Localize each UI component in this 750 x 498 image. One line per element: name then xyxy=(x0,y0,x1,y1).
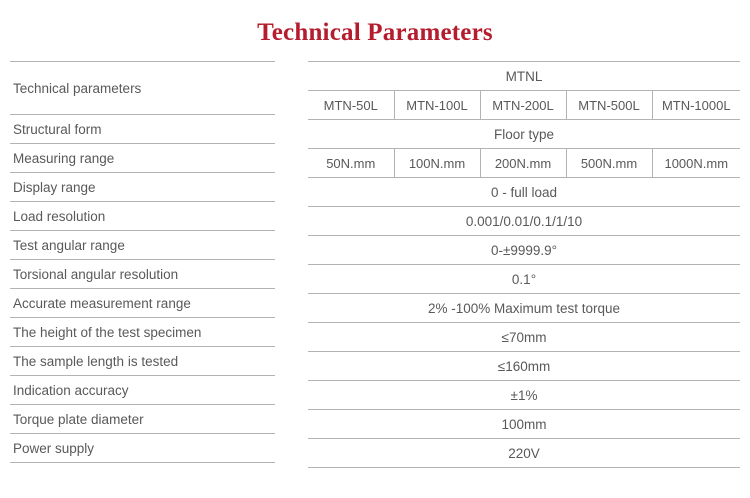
table-row: 0.001/0.01/0.1/1/10 xyxy=(308,207,740,236)
row-label-power-supply: Power supply xyxy=(10,434,275,463)
value-test-angular-range: 0-±9999.9° xyxy=(308,236,740,265)
table-row: ±1% xyxy=(308,381,740,410)
table-row: Torsional angular resolution xyxy=(10,260,275,289)
table-row: The sample length is tested xyxy=(10,347,275,376)
table-row: Floor type xyxy=(308,120,740,149)
table-row: Load resolution xyxy=(10,202,275,231)
value-indication-accuracy: ±1% xyxy=(308,381,740,410)
table-row: Accurate measurement range xyxy=(10,289,275,318)
parameter-value-table: MTNL MTN-50L MTN-100L MTN-200L MTN-500L … xyxy=(308,61,740,468)
model-cell-1: MTN-50L xyxy=(308,91,394,120)
row-label-indication-accuracy: Indication accuracy xyxy=(10,376,275,405)
table-row: Indication accuracy xyxy=(10,376,275,405)
row-label-torque-plate-diameter: Torque plate diameter xyxy=(10,405,275,434)
series-name-cell: MTNL xyxy=(308,62,740,91)
measuring-range-cell-5: 1000N.mm xyxy=(652,149,740,178)
table-row-measuring-range: 50N.mm 100N.mm 200N.mm 500N.mm 1000N.mm xyxy=(308,149,740,178)
value-structural-form: Floor type xyxy=(308,120,740,149)
table-row-header: Technical parameters xyxy=(10,62,275,115)
row-label-test-specimen-height: The height of the test specimen xyxy=(10,318,275,347)
row-label-measuring-range: Measuring range xyxy=(10,144,275,173)
measuring-range-cell-2: 100N.mm xyxy=(394,149,480,178)
value-load-resolution: 0.001/0.01/0.1/1/10 xyxy=(308,207,740,236)
table-row: 220V xyxy=(308,439,740,468)
specification-table: Technical parameters Structural form Mea… xyxy=(0,61,750,468)
table-row: Power supply xyxy=(10,434,275,463)
parameter-name-column: Technical parameters Structural form Mea… xyxy=(10,61,275,463)
row-label-test-angular-range: Test angular range xyxy=(10,231,275,260)
table-row: 100mm xyxy=(308,410,740,439)
table-row: Torque plate diameter xyxy=(10,405,275,434)
measuring-range-cell-3: 200N.mm xyxy=(480,149,566,178)
row-label-torsional-angular-resolution: Torsional angular resolution xyxy=(10,260,275,289)
table-row: Structural form xyxy=(10,115,275,144)
table-row: ≤160mm xyxy=(308,352,740,381)
row-label-load-resolution: Load resolution xyxy=(10,202,275,231)
value-torsional-angular-resolution: 0.1° xyxy=(308,265,740,294)
table-row: 0-±9999.9° xyxy=(308,236,740,265)
table-row: 0.1° xyxy=(308,265,740,294)
row-label-structural-form: Structural form xyxy=(10,115,275,144)
value-accurate-measurement-range: 2% -100% Maximum test torque xyxy=(308,294,740,323)
value-test-specimen-height: ≤70mm xyxy=(308,323,740,352)
parameter-value-column: MTNL MTN-50L MTN-100L MTN-200L MTN-500L … xyxy=(308,61,740,468)
row-label-display-range: Display range xyxy=(10,173,275,202)
page-title: Technical Parameters xyxy=(0,0,750,49)
measuring-range-cell-1: 50N.mm xyxy=(308,149,394,178)
row-label-sample-length: The sample length is tested xyxy=(10,347,275,376)
model-cell-5: MTN-1000L xyxy=(652,91,740,120)
table-row: ≤70mm xyxy=(308,323,740,352)
model-cell-4: MTN-500L xyxy=(566,91,652,120)
value-power-supply: 220V xyxy=(308,439,740,468)
value-torque-plate-diameter: 100mm xyxy=(308,410,740,439)
table-row: The height of the test specimen xyxy=(10,318,275,347)
value-display-range: 0 - full load xyxy=(308,178,740,207)
model-cell-3: MTN-200L xyxy=(480,91,566,120)
table-row: Test angular range xyxy=(10,231,275,260)
table-row-series: MTNL xyxy=(308,62,740,91)
row-label-accurate-measurement-range: Accurate measurement range xyxy=(10,289,275,318)
table-row: 2% -100% Maximum test torque xyxy=(308,294,740,323)
table-row-models: MTN-50L MTN-100L MTN-200L MTN-500L MTN-1… xyxy=(308,91,740,120)
parameter-name-table: Technical parameters Structural form Mea… xyxy=(10,61,275,463)
column-header-technical-parameters: Technical parameters xyxy=(10,62,275,115)
table-row: Measuring range xyxy=(10,144,275,173)
measuring-range-cell-4: 500N.mm xyxy=(566,149,652,178)
model-cell-2: MTN-100L xyxy=(394,91,480,120)
table-row: 0 - full load xyxy=(308,178,740,207)
value-sample-length: ≤160mm xyxy=(308,352,740,381)
table-row: Display range xyxy=(10,173,275,202)
